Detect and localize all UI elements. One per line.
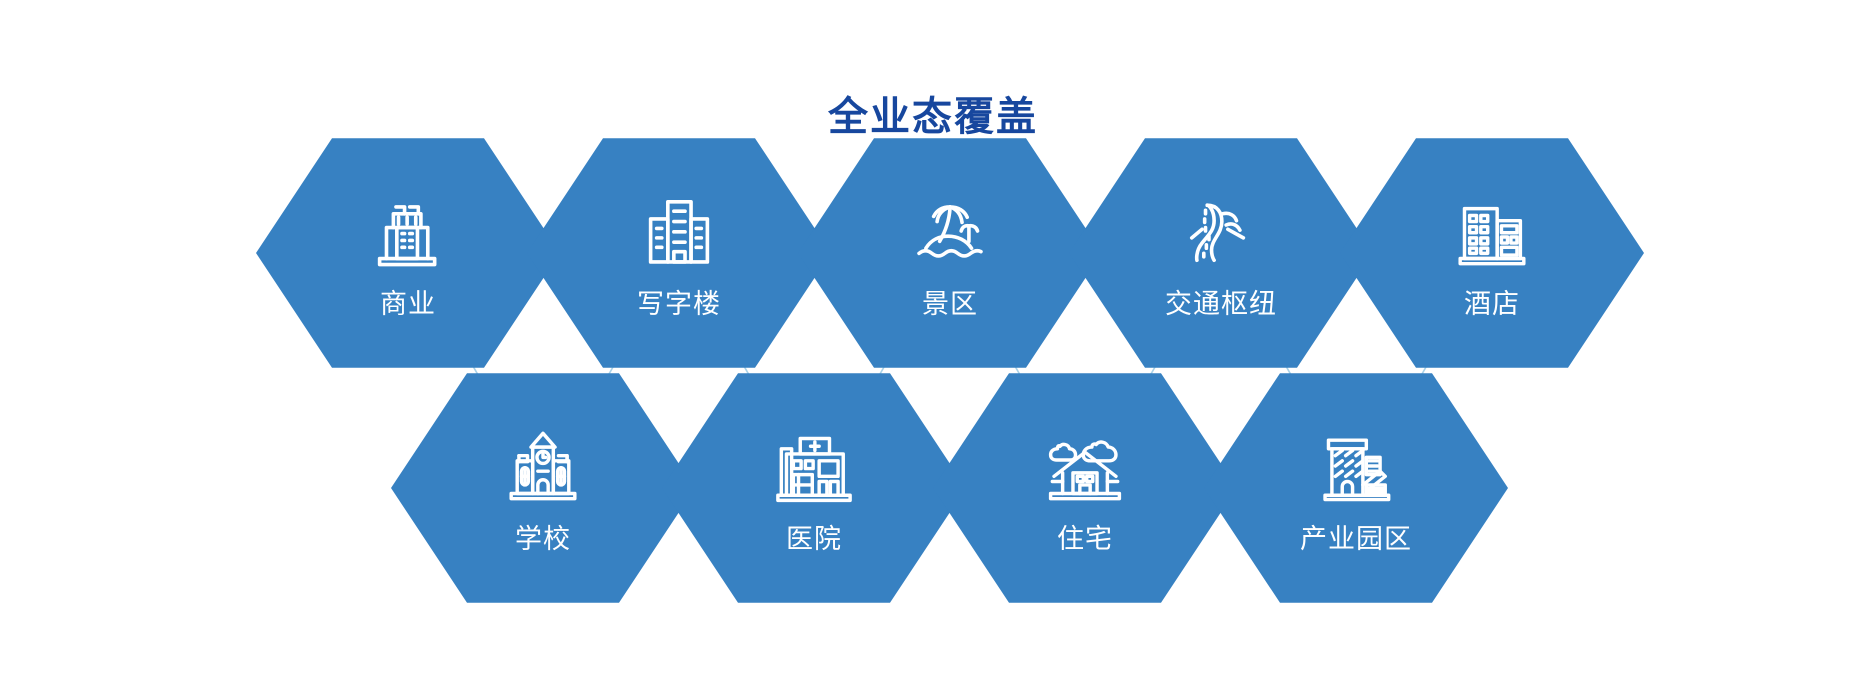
hex-shape xyxy=(798,138,1102,368)
hex-cell-transit-hub[interactable] xyxy=(1069,138,1373,368)
hex-cell-scenic[interactable] xyxy=(798,138,1102,368)
hex-cell-residential[interactable] xyxy=(933,373,1237,603)
hex-shape xyxy=(1069,138,1373,368)
hexagon-diagram xyxy=(0,0,1866,677)
hex-cell-commercial[interactable] xyxy=(256,138,560,368)
hex-cell-school[interactable] xyxy=(391,373,695,603)
slide-canvas: 全业态覆盖 xyxy=(0,0,1866,677)
hex-cell-industrial-park[interactable] xyxy=(1204,373,1508,603)
hex-shape xyxy=(1204,373,1508,603)
hex-cell-office[interactable] xyxy=(527,138,831,368)
hex-shape xyxy=(391,373,695,603)
hex-shape xyxy=(933,373,1237,603)
hex-shape xyxy=(256,138,560,368)
hex-shape xyxy=(1340,138,1644,368)
hex-cell-hospital[interactable] xyxy=(662,373,966,603)
hex-cell-hotel[interactable] xyxy=(1340,138,1644,368)
